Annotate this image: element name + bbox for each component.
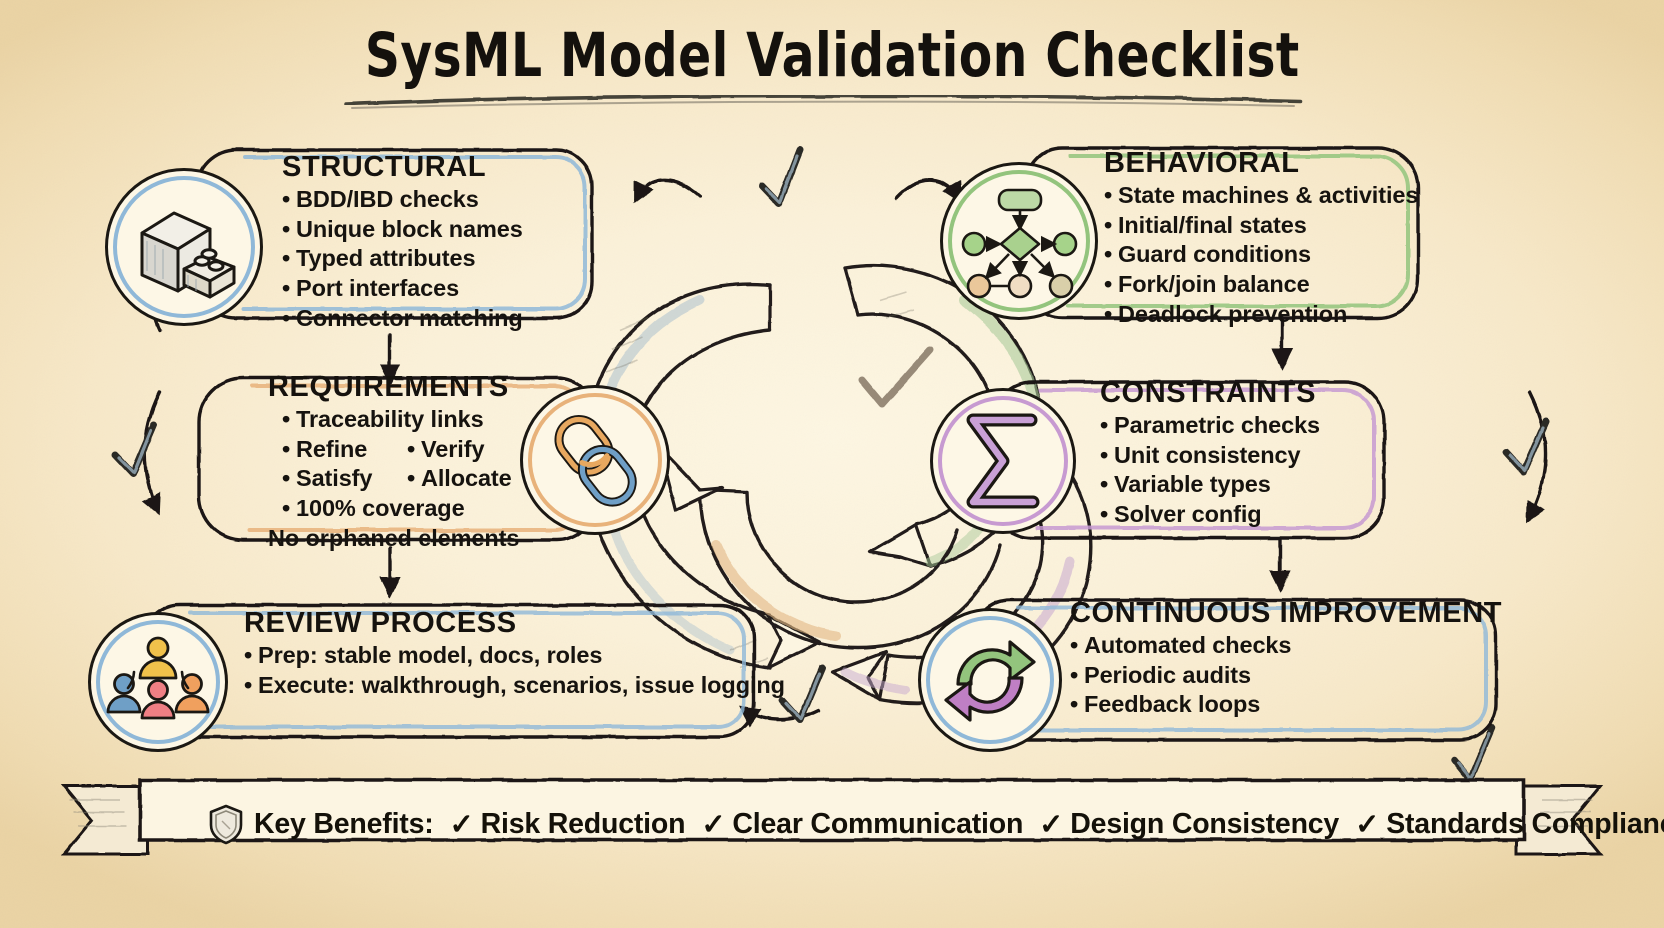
card-title-constraints: CONSTRAINTS <box>1100 378 1420 410</box>
continuous-improvement-icon-circle <box>918 608 1062 752</box>
list-item: •Connector matching <box>282 304 582 334</box>
card-constraints[interactable]: CONSTRAINTS •Parametric checks •Unit con… <box>1100 378 1420 530</box>
bullet-list-constraints: •Parametric checks •Unit consistency •Va… <box>1100 411 1420 530</box>
state-machine-icon <box>957 182 1081 300</box>
list-item: •Execute: walkthrough, scenarios, issue … <box>244 671 744 701</box>
list-item: •Unique block names <box>282 215 582 245</box>
behavioral-icon-circle <box>940 162 1098 320</box>
list-item: •Feedback loops <box>1070 690 1490 720</box>
list-item: •Typed attributes <box>282 244 582 274</box>
benefit-design-consistency: Design Consistency <box>1070 808 1339 841</box>
bullet-list-requirements: •Traceability links •Refine •Verify •Sat… <box>268 405 588 554</box>
structural-icon-circle <box>105 168 263 326</box>
card-structural[interactable]: STRUCTURAL •BDD/IBD checks •Unique block… <box>282 152 582 333</box>
people-group-icon <box>106 632 210 732</box>
list-item: •Unit consistency <box>1100 441 1420 471</box>
list-item: •Refine •Verify <box>268 435 588 465</box>
bullet-list-continuous-improvement: •Automated checks •Periodic audits •Feed… <box>1070 631 1490 720</box>
card-review-process[interactable]: REVIEW PROCESS •Prep: stable model, docs… <box>244 608 744 700</box>
list-item: •Periodic audits <box>1070 661 1490 691</box>
list-item: •Parametric checks <box>1100 411 1420 441</box>
list-item: •Automated checks <box>1070 631 1490 661</box>
list-item: •State machines & activities <box>1104 181 1444 211</box>
cycle-arrows-icon <box>938 628 1042 732</box>
benefit-standards-compliance: Standards Compliance <box>1386 808 1664 841</box>
list-item: •Initial/final states <box>1104 211 1444 241</box>
card-title-structural: STRUCTURAL <box>282 152 582 184</box>
list-item: •Prep: stable model, docs, roles <box>244 641 744 671</box>
bullet-list-review-process: •Prep: stable model, docs, roles •Execut… <box>244 641 744 700</box>
benefit-risk-reduction: Risk Reduction <box>481 808 686 841</box>
page-title: SysML Model Validation Checklist <box>365 24 1300 88</box>
list-item: •Fork/join balance <box>1104 270 1444 300</box>
list-item: •Traceability links <box>268 405 588 435</box>
shield-icon <box>208 803 244 845</box>
page-title-wrap: SysML Model Validation Checklist <box>0 24 1664 88</box>
card-requirements[interactable]: REQUIREMENTS •Traceability links •Refine… <box>268 372 588 553</box>
sigma-icon <box>955 410 1051 512</box>
ribbon-label: Key Benefits: <box>254 808 434 841</box>
list-item: •Deadlock prevention <box>1104 300 1444 330</box>
list-item: •100% coverage <box>268 494 588 524</box>
list-item: •Solver config <box>1100 500 1420 530</box>
card-title-behavioral: BEHAVIORAL <box>1104 148 1444 180</box>
list-item: •Port interfaces <box>282 274 582 304</box>
ribbon-text: Key Benefits: ✓ Risk Reduction ✓ Clear C… <box>208 798 1578 850</box>
card-title-review-process: REVIEW PROCESS <box>244 608 744 640</box>
card-title-requirements: REQUIREMENTS <box>268 372 588 404</box>
list-item: •Variable types <box>1100 470 1420 500</box>
list-item-footnote: No orphaned elements <box>268 524 588 554</box>
benefit-clear-communication: Clear Communication <box>732 808 1023 841</box>
list-item: •Guard conditions <box>1104 240 1444 270</box>
check-icon: ✓ <box>701 807 725 842</box>
card-continuous-improvement[interactable]: CONTINUOUS IMPROVEMENT •Automated checks… <box>1070 598 1490 720</box>
check-icon: ✓ <box>1039 807 1063 842</box>
review-process-icon-circle <box>88 612 228 752</box>
card-title-continuous-improvement: CONTINUOUS IMPROVEMENT <box>1070 598 1490 630</box>
cube-blocks-icon <box>124 191 244 303</box>
check-icon: ✓ <box>450 807 474 842</box>
constraints-icon-circle <box>930 388 1076 534</box>
card-behavioral[interactable]: BEHAVIORAL •State machines & activities … <box>1104 148 1444 329</box>
key-benefits-ribbon: Key Benefits: ✓ Risk Reduction ✓ Clear C… <box>58 778 1610 874</box>
bullet-list-behavioral: •State machines & activities •Initial/fi… <box>1104 181 1444 330</box>
bullet-list-structural: •BDD/IBD checks •Unique block names •Typ… <box>282 185 582 334</box>
chain-link-icon <box>543 408 647 512</box>
list-item: •BDD/IBD checks <box>282 185 582 215</box>
check-icon: ✓ <box>1355 807 1379 842</box>
list-item: •Satisfy •Allocate <box>268 464 588 494</box>
